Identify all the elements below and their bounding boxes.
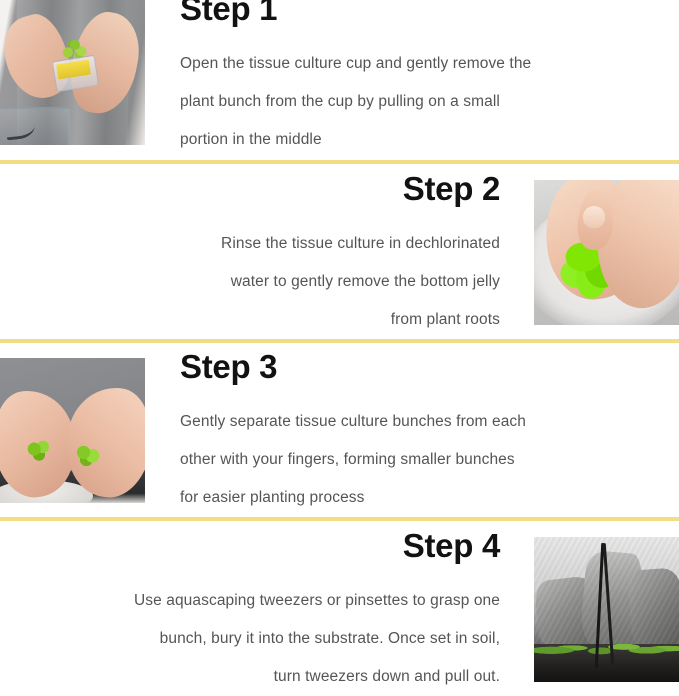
step-1-body: Open the tissue culture cup and gently r… xyxy=(180,45,650,159)
divider-after-step-3 xyxy=(0,517,679,521)
divider-after-step-1 xyxy=(0,160,679,164)
step-1-photo xyxy=(0,0,145,145)
step-2-photo xyxy=(534,180,679,325)
step-2-body: Rinse the tissue culture in dechlorinate… xyxy=(20,225,500,339)
step-3-scene xyxy=(0,358,145,503)
step-2-body-line-1: Rinse the tissue culture in dechlorinate… xyxy=(20,225,500,263)
step-3-body-line-1: Gently separate tissue culture bunches f… xyxy=(180,403,650,441)
step-3-body: Gently separate tissue culture bunches f… xyxy=(180,403,650,517)
step-block-1: Step 1 Open the tissue culture cup and g… xyxy=(0,0,679,142)
steps-infographic: Step 1 Open the tissue culture cup and g… xyxy=(0,0,679,684)
step-4-text-column: Step 4 Use aquascaping tweezers or pinse… xyxy=(20,529,500,696)
step-4-body: Use aquascaping tweezers or pinsettes to… xyxy=(20,582,500,696)
step-1-scene xyxy=(0,0,145,145)
step-2-body-line-3: from plant roots xyxy=(20,301,500,339)
step-3-photo xyxy=(0,358,145,503)
step-4-body-line-3: turn tweezers down and pull out. xyxy=(20,658,500,696)
step-1-body-line-2: plant bunch from the cup by pulling on a… xyxy=(180,83,650,121)
step-1-text-column: Step 1 Open the tissue culture cup and g… xyxy=(180,0,650,159)
step-2-scene xyxy=(534,180,679,325)
step-block-3: Step 3 Gently separate tissue culture bu… xyxy=(0,350,679,510)
step-3-title: Step 3 xyxy=(180,350,650,383)
step-2-body-line-2: water to gently remove the bottom jelly xyxy=(20,263,500,301)
step-2-text-column: Step 2 Rinse the tissue culture in dechl… xyxy=(20,172,500,339)
step-2-title: Step 2 xyxy=(20,172,500,205)
step-4-body-line-2: bunch, bury it into the substrate. Once … xyxy=(20,620,500,658)
step-3-text-column: Step 3 Gently separate tissue culture bu… xyxy=(180,350,650,517)
step-block-2: Step 2 Rinse the tissue culture in dechl… xyxy=(0,172,679,332)
step-1-title: Step 1 xyxy=(180,0,650,25)
step-4-body-line-1: Use aquascaping tweezers or pinsettes to… xyxy=(20,582,500,620)
step-3-body-line-3: for easier planting process xyxy=(180,479,650,517)
step-1-body-line-3: portion in the middle xyxy=(180,121,650,159)
step-1-body-line-1: Open the tissue culture cup and gently r… xyxy=(180,45,650,83)
step-3-body-line-2: other with your fingers, forming smaller… xyxy=(180,441,650,479)
step-4-title: Step 4 xyxy=(20,529,500,562)
step-4-scene xyxy=(534,537,679,682)
step-block-4: Step 4 Use aquascaping tweezers or pinse… xyxy=(0,529,679,689)
divider-after-step-2 xyxy=(0,339,679,343)
step-4-photo xyxy=(534,537,679,682)
